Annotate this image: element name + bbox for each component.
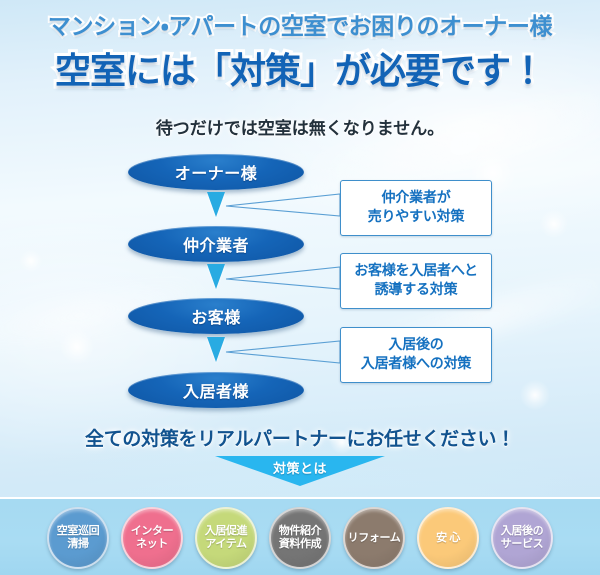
closing-message: 全ての対策をリアルパートナーにお任せください！ (0, 424, 600, 451)
service-bubble-row: 空室巡回 清掃インター ネット入居促進 アイテム物件紹介 資料作成リフォーム安 … (0, 499, 600, 575)
service-bubble[interactable]: 安 心 (417, 507, 479, 569)
headline-block: マンション・アパートの空室でお困りのオーナー様 空室には「対策」が必要です！ (0, 0, 600, 94)
service-bubble-label: 安 心 (436, 532, 460, 545)
callout-line: 入居者様への対策 (345, 354, 487, 373)
flow-node-resident: 入居者様 (128, 372, 304, 408)
flow-node-customer: お客様 (128, 298, 304, 334)
callout-line: 入居後の (345, 335, 487, 354)
callout-line: 仲介業者が (345, 188, 487, 207)
service-bubble[interactable]: 入居促進 アイテム (195, 507, 257, 569)
service-bubble-label: 入居促進 アイテム (205, 525, 247, 551)
sparkle-decoration (540, 210, 568, 238)
promo-banner: マンション・アパートの空室でお困りのオーナー様 空室には「対策」が必要です！ 待… (0, 0, 600, 575)
service-bubble-label: リフォーム (348, 532, 401, 545)
down-arrow-icon (207, 192, 225, 217)
services-band: 空室巡回 清掃インター ネット入居促進 アイテム物件紹介 資料作成リフォーム安 … (0, 497, 600, 575)
service-bubble[interactable]: リフォーム (343, 507, 405, 569)
callout-line: お客様を入居者へと (345, 261, 487, 280)
callout-box-resident-measure: 入居後の 入居者様への対策 (340, 327, 492, 383)
service-bubble-label: 物件紹介 資料作成 (279, 525, 321, 551)
banner-label: 対策とは (215, 458, 385, 477)
headline-line-1: マンション・アパートの空室でお困りのオーナー様 (0, 7, 600, 41)
measures-banner: 対策とは (215, 456, 385, 486)
sparkle-decoration (20, 250, 42, 272)
flow-node-owner: オーナー様 (128, 154, 304, 190)
callout-line: 誘導する対策 (345, 280, 487, 299)
service-bubble[interactable]: 物件紹介 資料作成 (269, 507, 331, 569)
headline-line-2: 空室には「対策」が必要です！ (0, 42, 600, 94)
callout-box-broker-measure: 仲介業者が 売りやすい対策 (340, 180, 492, 236)
service-bubble-label: インター ネット (131, 525, 173, 551)
down-arrow-icon (207, 337, 225, 362)
sparkle-decoration (520, 380, 550, 410)
service-bubble-label: 空室巡回 清掃 (57, 525, 99, 551)
sparkle-decoration (60, 330, 94, 364)
service-bubble[interactable]: 入居後の サービス (491, 507, 553, 569)
service-bubble-label: 入居後の サービス (501, 525, 543, 551)
callout-box-customer-measure: お客様を入居者へと 誘導する対策 (340, 253, 492, 309)
flow-node-broker: 仲介業者 (128, 226, 304, 262)
service-bubble[interactable]: 空室巡回 清掃 (47, 507, 109, 569)
down-arrow-icon (207, 264, 225, 289)
subtitle-text: 待つだけでは空室は無くなりません。 (0, 114, 600, 139)
service-bubble[interactable]: インター ネット (121, 507, 183, 569)
callout-line: 売りやすい対策 (345, 207, 487, 226)
